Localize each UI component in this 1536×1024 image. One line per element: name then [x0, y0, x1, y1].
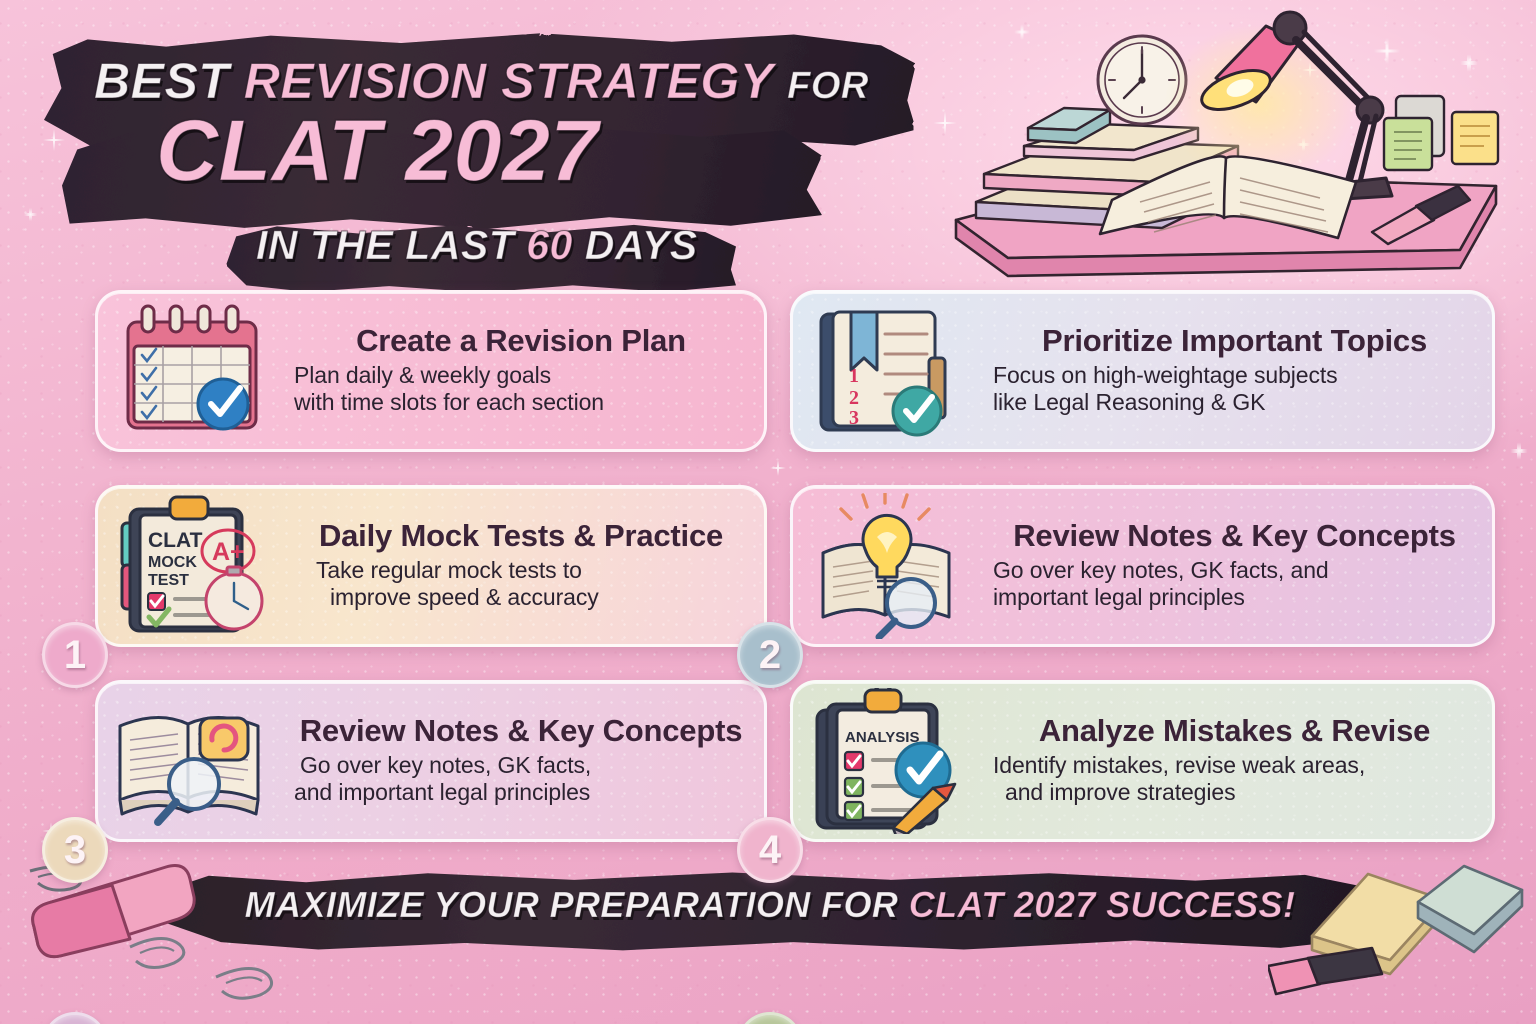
headline-revision-strategy: Revision Strategy	[244, 53, 773, 109]
card-prioritize-important-topics[interactable]: 123 Prioritize Important Topics Focus on…	[790, 290, 1495, 452]
card-desc-line-2: and important legal principles	[294, 779, 748, 807]
card-desc-line-2: and improve strategies	[993, 779, 1476, 807]
footer-text-pink: CLAT 2027 Success!	[909, 884, 1296, 925]
headline-in-the-last: In the Last	[256, 222, 514, 268]
card-badge-1: 1	[42, 622, 108, 688]
headline-best: Best	[94, 53, 229, 109]
headline-60: 60	[526, 222, 573, 268]
card-desc-line-2: important legal principles	[993, 584, 1476, 612]
card-badge-2: 2	[737, 622, 803, 688]
headline-line-3: In the Last 60 Days	[256, 222, 698, 269]
card-text: Review Notes & Key Concepts Go over key …	[294, 715, 748, 807]
stationery-eraser-paperclips	[8, 855, 318, 1020]
badge-number: 3	[64, 828, 86, 873]
card-title: Create a Revision Plan	[294, 325, 748, 358]
badge-number: 2	[759, 633, 781, 678]
card-text: Daily Mock Tests & Practice Take regular…	[294, 520, 748, 612]
card-desc-line-2: improve speed & accuracy	[294, 584, 748, 612]
card-daily-mock-tests[interactable]: CLAT MOCK TEST A+ D	[95, 485, 767, 647]
clipboard-label-mock: MOCK	[148, 554, 197, 571]
card-desc-line-1: Take regular mock tests to	[294, 557, 748, 585]
headline-days: Days	[585, 222, 698, 268]
lightbulb-open-book-magnifier-icon	[807, 493, 975, 639]
card-desc-line-2: with time slots for each section	[294, 389, 748, 417]
card-desc-line-1: Identify mistakes, revise weak areas,	[993, 752, 1476, 780]
card-desc-line-2: like Legal Reasoning & GK	[993, 389, 1476, 417]
card-review-notes-key-concepts-a[interactable]: Review Notes & Key Concepts Go over key …	[790, 485, 1495, 647]
card-title: Review Notes & Key Concepts	[294, 715, 748, 748]
card-title: Analyze Mistakes & Revise	[993, 715, 1476, 748]
calendar-checklist-icon	[112, 298, 280, 444]
card-text: Create a Revision Plan Plan daily & week…	[294, 325, 748, 417]
headline-line-2: CLAT 2027	[156, 102, 599, 201]
footer-text: Maximize Your Preparation For CLAT 2027 …	[150, 884, 1390, 926]
svg-text:1: 1	[849, 365, 859, 387]
card-badge-3: 3	[42, 817, 108, 883]
open-book-magnifier-sticker-icon	[112, 688, 280, 834]
headline-clat-2027: CLAT 2027	[156, 103, 599, 199]
headline-for: for	[787, 65, 869, 107]
card-desc-line-1: Go over key notes, GK facts,	[294, 752, 748, 780]
badge-number: 1	[64, 633, 86, 678]
analysis-clipboard-check-pencil-icon: ANALYSIS	[807, 688, 975, 834]
card-title: Prioritize Important Topics	[993, 325, 1476, 358]
card-badge-4: 4	[737, 817, 803, 883]
badge-number: 4	[759, 828, 781, 873]
card-title: Daily Mock Tests & Practice	[294, 520, 748, 553]
clipboard-label-clat: CLAT	[148, 529, 203, 552]
clat-mock-test-clipboard-stopwatch-icon: CLAT MOCK TEST A+	[112, 493, 280, 639]
clipboard-label-test: TEST	[148, 572, 189, 589]
strategy-cards-grid: 1 2 3 4 5 5	[0, 282, 1536, 862]
svg-text:2: 2	[849, 387, 859, 409]
card-text: Analyze Mistakes & Revise Identify mista…	[993, 715, 1476, 807]
card-text: Review Notes & Key Concepts Go over key …	[993, 520, 1476, 612]
card-text: Prioritize Important Topics Focus on hig…	[993, 325, 1476, 417]
clipboard-label-analysis: ANALYSIS	[845, 729, 919, 746]
bookmarked-notebook-checkmark-icon: 123	[807, 298, 975, 444]
svg-text:3: 3	[849, 407, 859, 429]
stationery-sticky-notes-pen	[1268, 862, 1536, 1024]
card-analyze-mistakes-revise[interactable]: ANALYSIS Analy	[790, 680, 1495, 842]
study-desk-illustration	[948, 6, 1528, 284]
card-desc-line-1: Go over key notes, GK facts, and	[993, 557, 1476, 585]
card-title: Review Notes & Key Concepts	[993, 520, 1476, 553]
card-review-notes-key-concepts-b[interactable]: Review Notes & Key Concepts Go over key …	[95, 680, 767, 842]
grade-label: A+	[212, 538, 245, 566]
card-desc-line-1: Plan daily & weekly goals	[294, 362, 748, 390]
headline-banner: Best Revision Strategy for CLAT 2027 In …	[26, 26, 931, 276]
card-create-revision-plan[interactable]: Create a Revision Plan Plan daily & week…	[95, 290, 767, 452]
footer-text-white: Maximize Your Preparation For	[245, 884, 899, 925]
card-desc-line-1: Focus on high-weightage subjects	[993, 362, 1476, 390]
